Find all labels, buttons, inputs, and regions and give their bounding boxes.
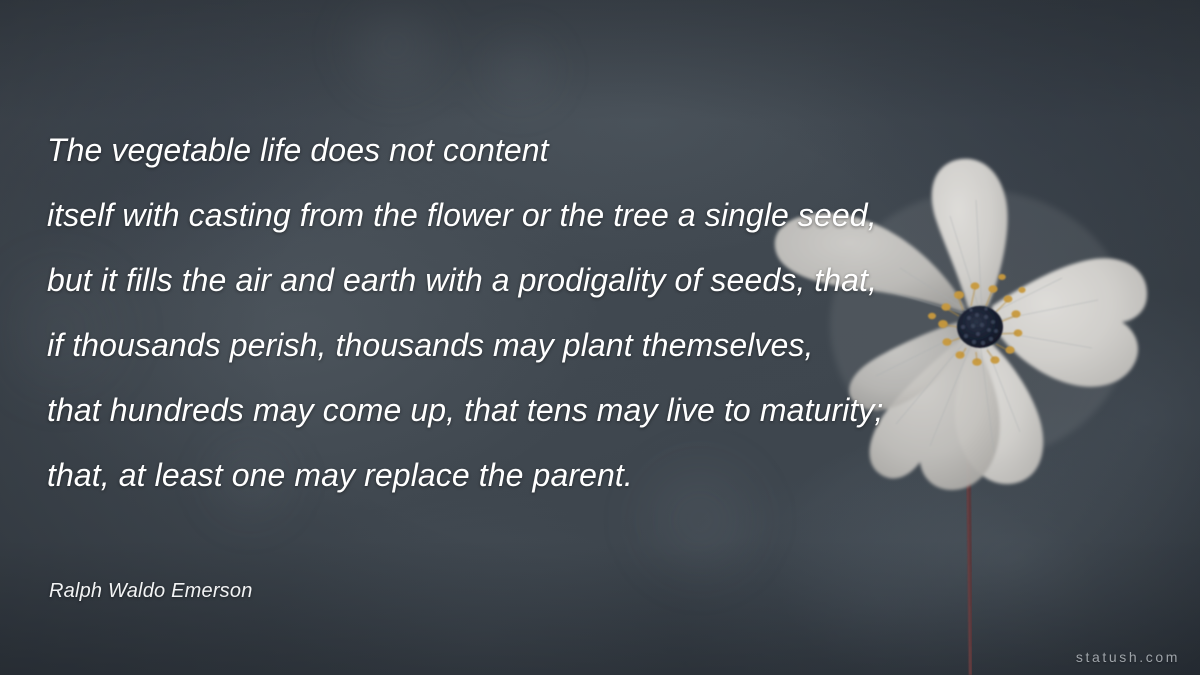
quote-line: itself with casting from the flower or t… [47,183,1127,248]
quote-line: that, at least one may replace the paren… [47,443,1127,508]
quote-author: Ralph Waldo Emerson [49,578,253,604]
quote-line: if thousands perish, thousands may plant… [47,313,1127,378]
quote-line: that hundreds may come up, that tens may… [47,378,1127,443]
site-watermark: statush.com [1076,649,1180,665]
quote-image-canvas: The vegetable life does not content itse… [0,0,1200,675]
quote-line: The vegetable life does not content [47,118,1127,183]
quote-line: but it fills the air and earth with a pr… [47,248,1127,313]
quote-text: The vegetable life does not content itse… [47,118,1127,508]
